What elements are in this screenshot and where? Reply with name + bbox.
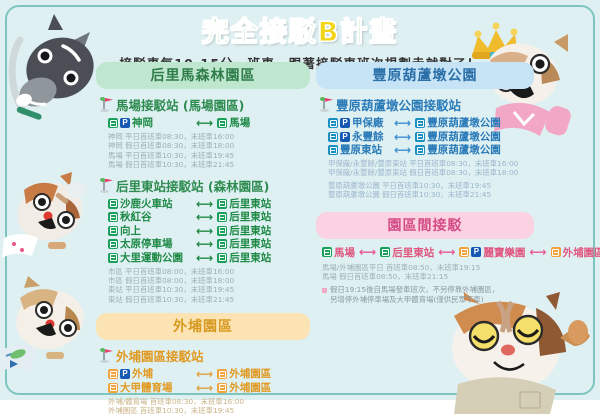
route-destination: 外埔園區 <box>217 382 271 394</box>
station-group-label: 馬場接駁站 (馬場園區) <box>116 95 244 114</box>
bus-icon <box>551 247 561 257</box>
right-column: 豐原葫蘆墩公園 豐原葫蘆墩公園接駁站 P 甲保廠 ⟷ 豐原葫蘆墩公園 <box>316 62 534 305</box>
route-origin: 豐原東站 <box>328 144 390 156</box>
timetable-note: 東站 假日首班車10:30，末班車21:45 <box>108 295 310 304</box>
disclaimer-line-1: 假日19:15後自馬場發車班次，不另停靠外埔園區， <box>330 285 499 294</box>
route-rows: 沙鹿火車站 ⟷ 后里東站 秋紅谷 ⟷ 后里 <box>108 198 310 264</box>
flag-icon <box>318 97 332 112</box>
route-origin: 向上 <box>108 225 192 237</box>
route-row: P 甲保廠 ⟷ 豐原葫蘆墩公園 <box>328 117 534 129</box>
bus-icon <box>380 247 390 257</box>
timetable-notes: 甲保廠/永豐餘/豐原東站 平日首班車08:30，末班車16:00 甲保廠/永豐餘… <box>328 159 534 200</box>
timetable-note: 東站 平日首班車10:30，末班車19:45 <box>108 285 310 294</box>
title-plan-letter: B <box>318 17 341 48</box>
bidirectional-arrow-icon: ⟷ <box>196 253 213 263</box>
bus-icon <box>328 132 338 142</box>
route-row: 沙鹿火車站 ⟷ 后里東站 <box>108 198 310 210</box>
section-heading-waipu: 外埔園區 <box>96 313 310 340</box>
section-heading-inter-park: 園區間接駁 <box>316 212 534 239</box>
bidirectional-arrow-icon: ⟷ <box>394 145 411 155</box>
bidirectional-arrow-icon: ⟷ <box>438 247 455 257</box>
route-origin: P 神岡 <box>108 117 192 129</box>
disclaimer-text: 假日19:15後自馬場發車班次，不另停靠外埔園區， 另增停外埔停車場及大甲體育場… <box>330 285 499 304</box>
timetable-note: 馬場/外埔園區平日 首班車08:50，末班車19:15 <box>322 263 534 272</box>
chain-stop-label: 馬場 <box>334 245 355 260</box>
bus-icon <box>217 212 227 222</box>
bus-icon <box>108 199 118 209</box>
chain-stop: 馬場 <box>322 245 355 260</box>
bus-icon <box>217 383 227 393</box>
chain-stop: 外埔園區 <box>551 245 600 260</box>
route-origin: P 永豐餘 <box>328 131 390 143</box>
route-destination-label: 后里東站 <box>229 198 271 210</box>
bidirectional-arrow-icon: ⟷ <box>196 369 213 379</box>
route-origin-label: 太原停車場 <box>120 238 173 250</box>
timetable-note: 甲保廠/永豐餘/豐原東站 假日首班車08:30，末班車18:00 <box>328 168 534 177</box>
route-rows: P 神岡 ⟷ 馬場 <box>108 117 310 129</box>
route-destination: 豐原葫蘆墩公園 <box>415 117 501 129</box>
bus-icon <box>108 118 118 128</box>
bus-icon <box>415 132 425 142</box>
bus-icon <box>322 247 332 257</box>
route-origin: 大里運動公園 <box>108 252 192 264</box>
section-inter-park: 園區間接駁 馬場 ⟷ 后里東站 ⟷ P 麗寶樂園 ⟷ <box>316 212 534 305</box>
bullet-icon <box>322 288 327 293</box>
route-origin-label: 外埔 <box>132 368 153 380</box>
section-heading-fengyuan: 豐原葫蘆墩公園 <box>316 62 534 89</box>
route-destination: 后里東站 <box>217 238 271 250</box>
chain-stop: P 麗寶樂園 <box>459 245 525 260</box>
route-row: 太原停車場 ⟷ 后里東站 <box>108 238 310 250</box>
bus-icon <box>459 247 469 257</box>
station-group-label: 外埔園區接駁站 <box>116 346 204 365</box>
route-origin-label: 大甲體育場 <box>120 382 173 394</box>
route-destination: 豐原葫蘆墩公園 <box>415 131 501 143</box>
bus-icon <box>108 383 118 393</box>
bus-icon <box>415 118 425 128</box>
timetable-note: 市區 假日首班車08:00，末班車18:00 <box>108 276 310 285</box>
route-origin: P 甲保廠 <box>328 117 390 129</box>
station-group-title: 豐原葫蘆墩公園接駁站 <box>318 95 534 114</box>
station-group-machang: 馬場接駁站 (馬場園區) P 神岡 ⟷ 馬場 神岡 平日首班 <box>96 95 310 170</box>
station-group-houli-east: 后里東站接駁站 (森林園區) 沙鹿火車站 ⟷ 后里東站 <box>96 176 310 305</box>
station-group-fengyuan: 豐原葫蘆墩公園接駁站 P 甲保廠 ⟷ 豐原葫蘆墩公園 <box>316 95 534 200</box>
route-rows: P 外埔 ⟷ 外埔園區 大甲體育場 <box>108 368 310 394</box>
bus-icon <box>217 199 227 209</box>
route-destination: 后里東站 <box>217 211 271 223</box>
bidirectional-arrow-icon: ⟷ <box>196 226 213 236</box>
route-destination: 豐原葫蘆墩公園 <box>415 144 501 156</box>
chain-stop-label: 后里東站 <box>392 245 434 260</box>
parking-icon: P <box>340 132 350 142</box>
station-group-label: 豐原葫蘆墩公園接駁站 <box>336 95 461 114</box>
bus-icon <box>108 239 118 249</box>
route-destination-label: 后里東站 <box>229 252 271 264</box>
bus-icon <box>217 369 227 379</box>
bus-icon <box>217 253 227 263</box>
bus-icon <box>108 369 118 379</box>
flag-icon <box>98 97 112 112</box>
route-origin: 太原停車場 <box>108 238 192 250</box>
route-origin-label: 甲保廠 <box>352 117 384 129</box>
timetable-note: 外埔園區 首班車10:30，末班車19:45 <box>108 406 310 415</box>
bidirectional-arrow-icon: ⟷ <box>359 247 376 257</box>
bidirectional-arrow-icon: ⟷ <box>394 132 411 142</box>
route-origin-label: 沙鹿火車站 <box>120 198 173 210</box>
bidirectional-arrow-icon: ⟷ <box>196 199 213 209</box>
bidirectional-arrow-icon: ⟷ <box>394 118 411 128</box>
route-destination-label: 豐原葫蘆墩公園 <box>427 131 501 143</box>
inter-park-chain: 馬場 ⟷ 后里東站 ⟷ P 麗寶樂園 ⟷ 外埔園區 <box>322 245 534 260</box>
left-column: 后里馬森林園區 馬場接駁站 (馬場園區) P 神岡 ⟷ 馬場 <box>96 62 310 420</box>
route-origin-label: 神岡 <box>132 117 153 129</box>
chain-stop-label: 麗寶樂園 <box>483 245 525 260</box>
route-destination-label: 豐原葫蘆墩公園 <box>427 117 501 129</box>
route-destination: 后里東站 <box>217 252 271 264</box>
route-destination-label: 外埔園區 <box>229 382 271 394</box>
route-row: P 外埔 ⟷ 外埔園區 <box>108 368 310 380</box>
route-origin-label: 永豐餘 <box>352 131 384 143</box>
route-destination: 馬場 <box>217 117 250 129</box>
poster-root: 完全接駁B計畫 接駁車每10-15分一班車，跟著接駁車班次規劃走就對了！ 后里馬… <box>0 0 600 400</box>
route-row: 秋紅谷 ⟷ 后里東站 <box>108 211 310 223</box>
bus-icon <box>217 226 227 236</box>
tiger-cat-mascot <box>428 292 598 402</box>
station-group-title: 外埔園區接駁站 <box>98 346 310 365</box>
route-origin: 大甲體育場 <box>108 382 192 394</box>
route-row: 向上 ⟷ 后里東站 <box>108 225 310 237</box>
bus-icon <box>328 118 338 128</box>
timetable-note: 馬場 假日首班車10:30，末班車21:45 <box>108 160 310 169</box>
timetable-note: 甲保廠/永豐餘/豐原東站 平日首班車08:30，末班車16:00 <box>328 159 534 168</box>
route-destination: 外埔園區 <box>217 368 271 380</box>
route-row: 大甲體育場 ⟷ 外埔園區 <box>108 382 310 394</box>
cat-mascot-left-lower <box>0 272 96 382</box>
timetable-note: 神岡 假日首班車08:30，末班車18:00 <box>108 141 310 150</box>
timetable-note: 神岡 平日首班車08:30，末班車16:00 <box>108 132 310 141</box>
title-suffix: 計畫 <box>340 17 398 48</box>
bus-icon <box>108 212 118 222</box>
bidirectional-arrow-icon: ⟷ <box>529 247 546 257</box>
station-group-title: 后里東站接駁站 (森林園區) <box>98 176 310 195</box>
route-row: 大里運動公園 ⟷ 后里東站 <box>108 252 310 264</box>
bus-icon <box>217 239 227 249</box>
route-destination-label: 外埔園區 <box>229 368 271 380</box>
bidirectional-arrow-icon: ⟷ <box>196 239 213 249</box>
title-prefix: 完全接駁 <box>202 17 318 48</box>
flag-icon <box>98 348 112 363</box>
route-destination-label: 后里東站 <box>229 211 271 223</box>
timetable-note: 外埔/體育場 首班車08:30，末班車16:00 <box>108 397 310 406</box>
parking-icon: P <box>120 118 130 128</box>
route-origin-label: 向上 <box>120 225 141 237</box>
timetable-note: 豐原葫蘆墩公園 假日首班車10:30，末班車21:45 <box>328 190 534 199</box>
bus-icon <box>108 226 118 236</box>
station-group-title: 馬場接駁站 (馬場園區) <box>98 95 310 114</box>
route-destination: 后里東站 <box>217 225 271 237</box>
timetable-note: 豐原葫蘆墩公園 平日首班車10:30，末班車19:45 <box>328 181 534 190</box>
timetable-note: 市區 平日首班車08:00，末班車16:00 <box>108 267 310 276</box>
route-destination: 后里東站 <box>217 198 271 210</box>
parking-icon: P <box>471 247 481 257</box>
inter-park-notes: 馬場/外埔園區平日 首班車08:50，末班車19:15 馬場 假日首班車08:5… <box>322 263 534 282</box>
bus-icon <box>108 253 118 263</box>
chain-stop-label: 外埔園區 <box>563 245 600 260</box>
parking-icon: P <box>340 118 350 128</box>
page-title: 完全接駁B計畫 <box>202 10 399 49</box>
route-row: P 神岡 ⟷ 馬場 <box>108 117 310 129</box>
station-group-label: 后里東站接駁站 (森林園區) <box>116 176 269 195</box>
flag-icon <box>98 178 112 193</box>
bus-icon <box>217 118 227 128</box>
timetable-notes: 神岡 平日首班車08:30，末班車16:00 神岡 假日首班車08:30，末班車… <box>108 132 310 170</box>
parking-icon: P <box>120 369 130 379</box>
route-origin: 沙鹿火車站 <box>108 198 192 210</box>
route-destination-label: 豐原葫蘆墩公園 <box>427 144 501 156</box>
bus-icon <box>328 145 338 155</box>
timetable-note: 馬場 平日首班車10:30，末班車19:45 <box>108 151 310 160</box>
disclaimer-line-2: 另增停外埔停車場及大甲體育場(僅供民眾下車) <box>330 295 484 304</box>
route-row: P 永豐餘 ⟷ 豐原葫蘆墩公園 <box>328 131 534 143</box>
disclaimer-note: 假日19:15後自馬場發車班次，不另停靠外埔園區， 另增停外埔停車場及大甲體育場… <box>322 285 534 304</box>
section-waipu: 外埔園區 外埔園區接駁站 P 外埔 ⟷ <box>96 313 310 415</box>
route-origin-label: 大里運動公園 <box>120 252 183 264</box>
section-heading-houli-forest: 后里馬森林園區 <box>96 62 310 89</box>
route-origin: 秋紅谷 <box>108 211 192 223</box>
chain-stop: 后里東站 <box>380 245 434 260</box>
bus-icon <box>415 145 425 155</box>
bidirectional-arrow-icon: ⟷ <box>196 383 213 393</box>
bidirectional-arrow-icon: ⟷ <box>196 212 213 222</box>
route-rows: P 甲保廠 ⟷ 豐原葫蘆墩公園 P 永豐餘 ⟷ <box>328 117 534 156</box>
route-destination-label: 后里東站 <box>229 225 271 237</box>
route-destination-label: 后里東站 <box>229 238 271 250</box>
timetable-notes: 市區 平日首班車08:00，末班車16:00 市區 假日首班車08:00，末班車… <box>108 267 310 305</box>
route-row: 豐原東站 ⟷ 豐原葫蘆墩公園 <box>328 144 534 156</box>
route-origin: P 外埔 <box>108 368 192 380</box>
station-group-waipu: 外埔園區接駁站 P 外埔 ⟷ 外埔園區 <box>96 346 310 415</box>
route-origin-label: 豐原東站 <box>340 144 382 156</box>
cat-mascot-left-upper <box>0 168 92 268</box>
timetable-note: 馬場 假日首班車08:50，末班車21:15 <box>322 272 534 281</box>
route-origin-label: 秋紅谷 <box>120 211 152 223</box>
route-destination-label: 馬場 <box>229 117 250 129</box>
bidirectional-arrow-icon: ⟷ <box>196 118 213 128</box>
